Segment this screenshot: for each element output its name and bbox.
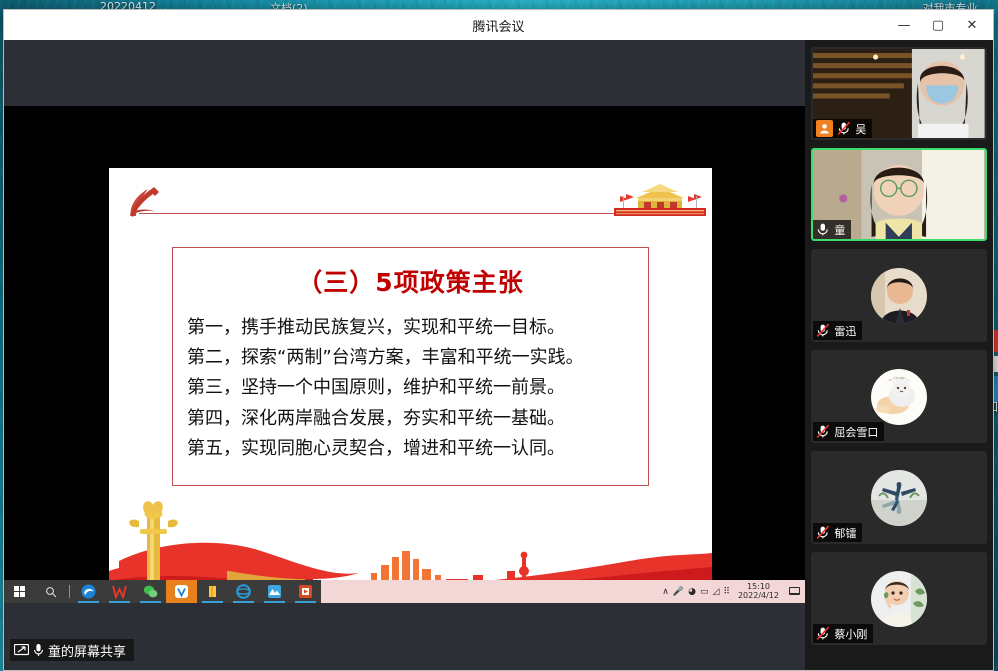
mic-off-icon (837, 121, 851, 136)
share-banner-label: 童的屏幕共享 (48, 641, 126, 660)
microphone-icon (33, 643, 44, 657)
tray-microphone-icon[interactable]: 🎤 (673, 587, 684, 597)
mic-off-icon (816, 323, 830, 338)
participant-namebar: 郁镭 (813, 523, 862, 542)
participant-namebar: 蔡小刚 (813, 624, 873, 643)
host-badge-icon (816, 120, 833, 137)
mic-off-icon (816, 525, 830, 540)
mic-off-icon (816, 424, 830, 439)
participant-name: 雷迅 (834, 323, 856, 339)
powerpoint-taskbar-icon[interactable] (290, 580, 321, 603)
participant-rail[interactable]: 吴 (805, 40, 993, 670)
slide-bullet: 第一，携手推动民族复兴，实现和平统一目标。 (187, 313, 648, 343)
mic-unmuted-icon (816, 222, 830, 237)
taskbar-app-area (4, 580, 321, 603)
presentation-slide[interactable]: （三）5项政策主张 第一，携手推动民族复兴，实现和平统一目标。 第二，探索“两制… (109, 168, 712, 595)
avatar-photo-man (871, 268, 927, 324)
wps-icon (112, 584, 127, 599)
mic-on-icon (816, 222, 830, 237)
window-title: 腾讯会议 (4, 16, 993, 35)
search-icon (45, 586, 57, 598)
slide-bullet: 第五，实现同胞心灵契合，增进和平统一认同。 (187, 434, 648, 464)
slide-bullet: 第三，坚持一个中国原则，维护和平统一前景。 (187, 373, 648, 403)
folder-icon (205, 584, 220, 599)
mic-off-icon (816, 626, 830, 641)
tray-display-icon[interactable]: ▭ (700, 587, 709, 597)
window-titlebar[interactable]: 腾讯会议 — ▢ ✕ (4, 10, 993, 40)
participant-namebar: 雷迅 (813, 321, 862, 340)
mic-muted-icon (816, 626, 830, 641)
windows-taskbar[interactable]: ∧ 🎤 ◕ ▭ ◿ ⠿ 15:10 2022/4/12 (4, 580, 805, 603)
internet-explorer-icon (236, 584, 251, 599)
avatar-photo-dancer (871, 470, 927, 526)
party-emblem-icon (123, 182, 163, 222)
stage-bottom-strip (4, 666, 805, 670)
window-controls: — ▢ ✕ (887, 11, 989, 39)
avatar (871, 268, 927, 324)
avatar (871, 571, 927, 627)
mic-muted-icon (816, 525, 830, 540)
tencent-meeting-icon (174, 584, 189, 599)
taskbar-search-button[interactable] (35, 580, 66, 603)
internet-explorer-taskbar-icon[interactable] (228, 580, 259, 603)
participant-tile[interactable]: 雷迅 (811, 249, 987, 342)
mic-muted-icon (816, 323, 830, 338)
participant-name: 吴 (855, 121, 866, 137)
shared-screen-content[interactable]: （三）5项政策主张 第一，携手推动民族复兴，实现和平统一目标。 第二，探索“两制… (4, 106, 805, 603)
tiananmen-gate-image (614, 182, 706, 216)
participant-namebar: 吴 (813, 119, 872, 138)
slide-title: （三）5项政策主张 (173, 263, 648, 299)
windows-start-icon (14, 586, 25, 597)
clock-date: 2022/4/12 (738, 592, 779, 601)
avatar-cartoon-cat: ~宝宝~ (871, 369, 927, 425)
slide-bullet: 第四，深化两岸融合发展，夯实和平统一基础。 (187, 404, 648, 434)
slide-bottom-decoration (109, 485, 712, 595)
mic-muted-icon (816, 424, 830, 439)
participant-tile[interactable]: ~宝宝~ (811, 350, 987, 443)
taskbar-divider (69, 585, 70, 598)
avatar (871, 470, 927, 526)
participant-tile[interactable]: 吴 (811, 47, 987, 140)
notifications-icon (789, 587, 800, 596)
shared-screen-stage[interactable]: （三）5项政策主张 第一，携手推动民族复兴，实现和平统一目标。 第二，探索“两制… (4, 40, 805, 670)
participant-name: 郁镭 (834, 525, 856, 541)
participant-tile[interactable]: 蔡小刚 (811, 552, 987, 645)
tray-ime-icon[interactable]: ⠿ (723, 587, 730, 597)
avatar-photo-child (871, 571, 927, 627)
participant-namebar: 童 (813, 220, 851, 239)
participant-name: 蔡小刚 (834, 626, 867, 642)
participant-name: 童 (834, 222, 845, 238)
slide-bullet: 第二，探索“两制”台湾方案，丰富和平统一实践。 (187, 343, 648, 373)
wps-taskbar-icon[interactable] (104, 580, 135, 603)
tencent-meeting-taskbar-icon[interactable] (166, 580, 197, 603)
participant-tile[interactable]: 童 (811, 148, 987, 241)
taskbar-system-tray: ∧ 🎤 ◕ ▭ ◿ ⠿ 15:10 2022/4/12 (660, 580, 805, 603)
media-app-icon (267, 584, 282, 599)
maximize-button[interactable]: ▢ (921, 11, 955, 39)
tray-network-icon[interactable]: ◿ (712, 587, 719, 597)
edge-taskbar-icon[interactable] (73, 580, 104, 603)
file-explorer-taskbar-icon[interactable] (197, 580, 228, 603)
mic-muted-icon (837, 121, 851, 136)
tray-app-icon[interactable]: ◕ (688, 587, 696, 597)
powerpoint-icon (298, 584, 313, 599)
wechat-taskbar-icon[interactable] (135, 580, 166, 603)
screen-share-icon (14, 644, 29, 657)
screen-share-banner[interactable]: 童的屏幕共享 (10, 639, 134, 661)
edge-icon (81, 584, 96, 599)
wechat-icon (143, 584, 158, 599)
meeting-body: （三）5项政策主张 第一，携手推动民族复兴，实现和平统一目标。 第二，探索“两制… (4, 40, 993, 670)
close-button[interactable]: ✕ (955, 11, 989, 39)
person-icon (819, 123, 830, 134)
avatar: ~宝宝~ (871, 369, 927, 425)
show-desktop-button[interactable] (785, 580, 803, 603)
participant-name: 屈会雪口 (834, 424, 878, 440)
tencent-meeting-window: 腾讯会议 — ▢ ✕ (3, 9, 994, 671)
taskbar-clock[interactable]: 15:10 2022/4/12 (738, 583, 779, 601)
media-taskbar-icon[interactable] (259, 580, 290, 603)
tray-expand-icon[interactable]: ∧ (662, 587, 669, 597)
slide-content-box: （三）5项政策主张 第一，携手推动民族复兴，实现和平统一目标。 第二，探索“两制… (172, 247, 649, 486)
minimize-button[interactable]: — (887, 11, 921, 39)
slide-header-rule (139, 213, 614, 214)
slide-bullet-list: 第一，携手推动民族复兴，实现和平统一目标。 第二，探索“两制”台湾方案，丰富和平… (173, 313, 648, 464)
participant-namebar: 屈会雪口 (813, 422, 884, 441)
start-button[interactable] (4, 580, 35, 603)
participant-tile[interactable]: 郁镭 (811, 451, 987, 544)
